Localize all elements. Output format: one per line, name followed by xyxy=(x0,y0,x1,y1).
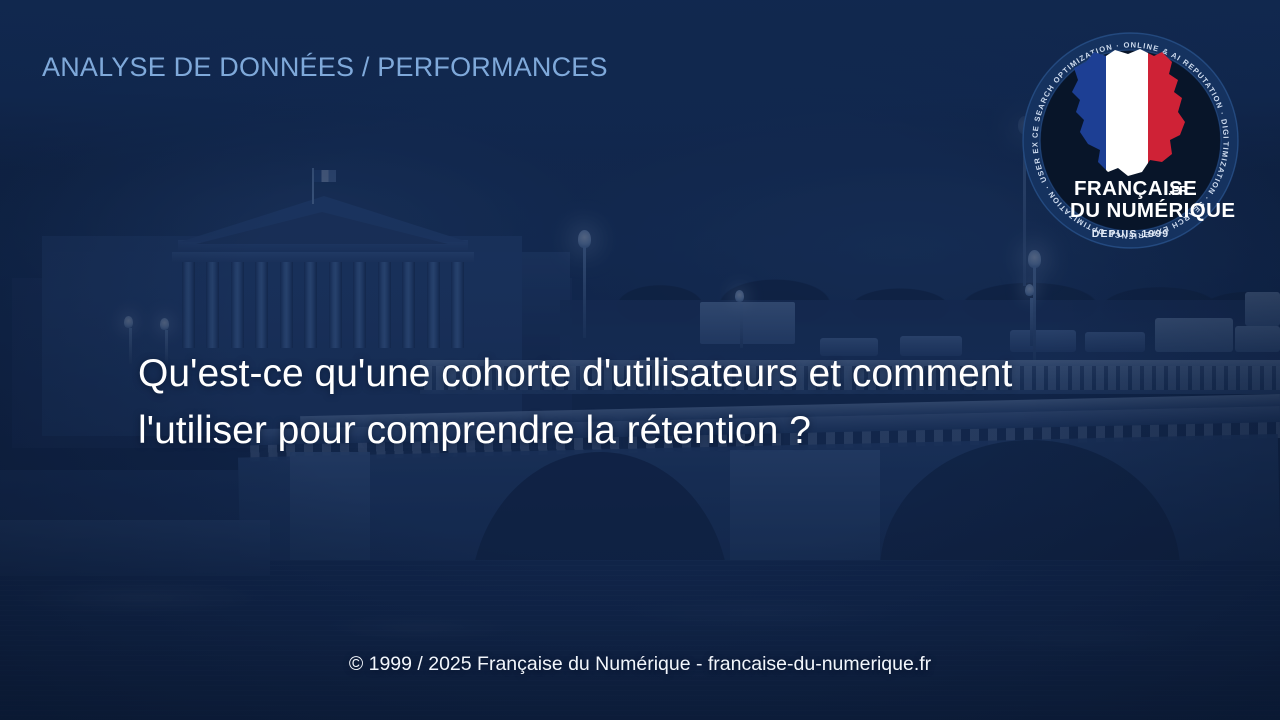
headline-line-2: l'utiliser pour comprendre la rétention … xyxy=(138,402,1098,459)
headline-line-1: Qu'est-ce qu'une cohorte d'utilisateurs … xyxy=(138,345,1098,402)
slide-content: ANALYSE DE DONNÉES / PERFORMANCES Qu'est… xyxy=(0,0,1280,720)
page-kicker-category: ANALYSE DE DONNÉES / PERFORMANCES xyxy=(42,52,608,83)
footer-copyright: © 1999 / 2025 Française du Numérique - f… xyxy=(0,653,1280,676)
logo-brand-tld: .FR xyxy=(1168,184,1188,198)
logo-tagline: DEPUIS 1999 xyxy=(1092,228,1169,240)
page-title: Qu'est-ce qu'une cohorte d'utilisateurs … xyxy=(138,345,1098,459)
brand-logo-badge[interactable]: ARTIFICIAL INTELLIGENCE SEARCH OPTIMIZAT… xyxy=(1022,32,1239,249)
slide-canvas: ANALYSE DE DONNÉES / PERFORMANCES Qu'est… xyxy=(0,0,1280,720)
logo-brand-line2: DU NUMÉRIQUE xyxy=(1070,199,1235,222)
